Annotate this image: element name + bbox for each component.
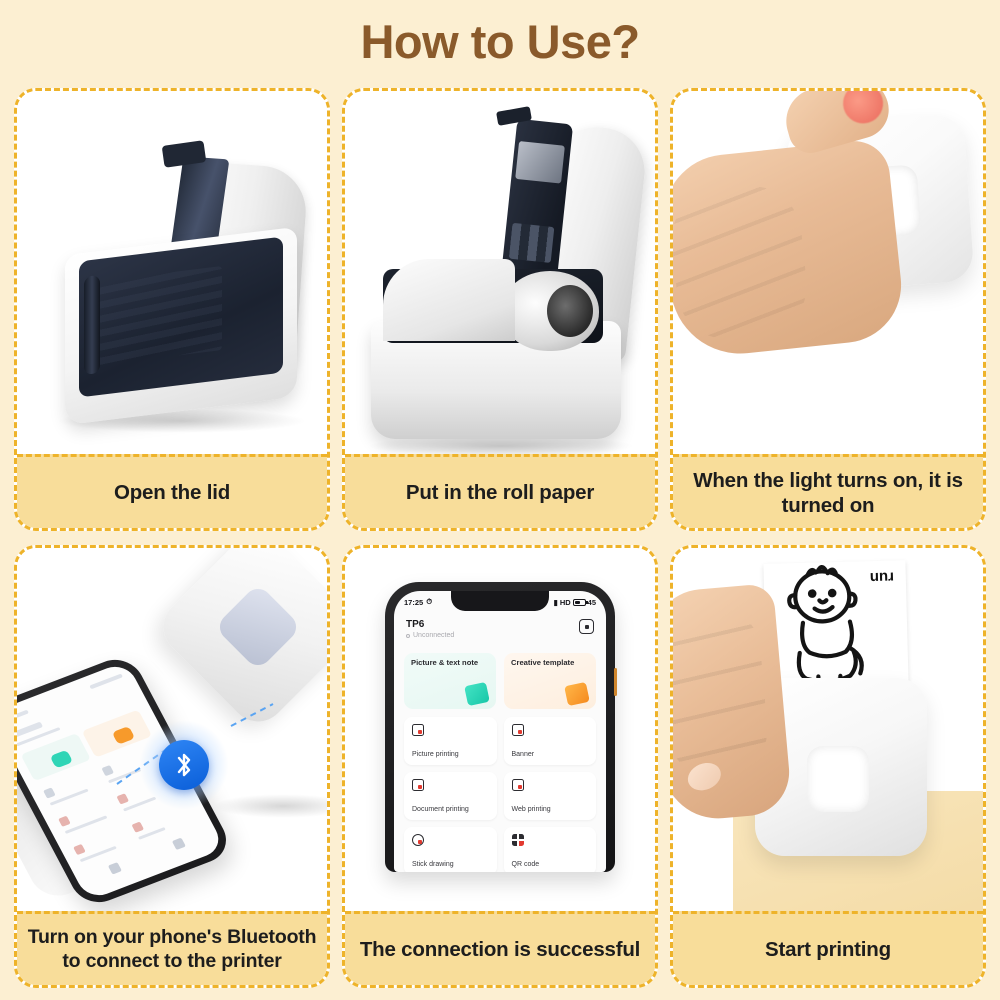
banner-icon <box>512 724 524 736</box>
battery-icon <box>573 599 586 606</box>
hand <box>673 138 907 361</box>
tile-icon-placeholder <box>58 816 71 827</box>
steps-grid: Open the lid Put in th <box>14 88 986 988</box>
template-icon <box>564 682 590 706</box>
tile-label: Picture printing <box>412 751 489 758</box>
step-6-caption: Start printing <box>673 911 983 985</box>
app-header: TP6 Unconnected <box>394 615 606 639</box>
connection-status: Unconnected <box>406 632 594 639</box>
step-4-photo <box>17 548 327 911</box>
card-picture-text-note[interactable]: Picture & text note <box>404 653 496 709</box>
phone-side-button[interactable] <box>614 668 617 696</box>
tile-web-printing[interactable]: Web printing <box>504 772 597 820</box>
printer-square-window <box>807 746 869 812</box>
signal-icon: ▮ <box>554 598 558 607</box>
step-4-caption: Turn on your phone's Bluetooth to connec… <box>17 911 327 985</box>
tile-banner[interactable]: Banner <box>504 717 597 765</box>
step-panel-1: Open the lid <box>14 88 330 531</box>
glowing-power-button <box>838 91 887 128</box>
feature-tiles: Picture printing Banner Document printin… <box>404 717 596 872</box>
tile-stick-drawing[interactable]: Stick drawing <box>404 827 497 872</box>
status-dot-icon <box>406 634 410 638</box>
smartphone: 17:25 ⏱ ▮ HD 45 TP6 <box>385 582 615 872</box>
printer-body <box>65 227 297 425</box>
card-label: Creative template <box>511 659 589 667</box>
status-bar-left: 17:25 ⏱ <box>404 597 432 607</box>
step-panel-2: Put in the roll paper <box>342 88 658 531</box>
paper-roller <box>84 275 100 375</box>
card-label: Picture & text note <box>411 659 489 667</box>
finger-creases <box>673 181 812 344</box>
printer-body <box>371 321 621 439</box>
document-printing-icon <box>412 779 424 791</box>
step-1-photo <box>17 91 327 454</box>
tabbar-icon-placeholder <box>108 862 122 874</box>
tile-label-placeholder <box>65 815 108 834</box>
page-title: How to Use? <box>0 14 1000 69</box>
stick-drawing-icon <box>412 834 424 846</box>
tile-label-placeholder <box>80 846 117 862</box>
qr-code-icon <box>512 834 524 846</box>
step-5-photo: 17:25 ⏱ ▮ HD 45 TP6 <box>345 548 655 911</box>
tile-label: Stick drawing <box>412 861 489 868</box>
paper-roll <box>501 271 599 351</box>
picture-printing-icon <box>412 724 424 736</box>
status-placeholder <box>17 710 29 723</box>
step-5-caption: The connection is successful <box>345 911 655 985</box>
step-3-photo <box>673 91 983 454</box>
doodle-text: run <box>869 568 894 586</box>
picture-note-icon <box>464 682 490 706</box>
how-to-use-infographic: How to Use? Open the lid <box>0 0 1000 1000</box>
tile-icon-placeholder <box>131 822 144 833</box>
network-label: HD <box>560 598 571 607</box>
card-creative-template[interactable]: Creative template <box>504 653 596 709</box>
paper-roll-core <box>547 285 593 337</box>
step-2-caption: Put in the roll paper <box>345 454 655 528</box>
step-panel-5: 17:25 ⏱ ▮ HD 45 TP6 <box>342 545 658 988</box>
phone-notch <box>451 591 549 611</box>
battery-level: 45 <box>588 598 596 607</box>
alarm-icon: ⏱ <box>426 597 432 607</box>
hand <box>673 583 793 823</box>
status-bar-right: ▮ HD 45 <box>554 598 596 607</box>
tile-document-printing[interactable]: Document printing <box>404 772 497 820</box>
step-3-caption: When the light turns on, it is turned on <box>673 454 983 528</box>
step-2-photo <box>345 91 655 454</box>
bluetooth-icon <box>159 740 209 790</box>
feature-cards: Picture & text note Creative template <box>404 653 596 709</box>
tile-label: Banner <box>512 751 589 758</box>
step-panel-4: Turn on your phone's Bluetooth to connec… <box>14 545 330 988</box>
printer-front-cover <box>383 259 515 341</box>
tile-label-placeholder <box>50 789 89 806</box>
printer-power-button <box>214 583 302 671</box>
finger-creases <box>673 602 771 780</box>
step-panel-3: When the light turns on, it is turned on <box>670 88 986 531</box>
status-placeholder <box>89 673 123 689</box>
tile-label: Web printing <box>512 806 589 813</box>
phone-screen[interactable]: 17:25 ⏱ ▮ HD 45 TP6 <box>394 591 606 872</box>
tabbar-icon-placeholder <box>172 838 186 850</box>
thermal-head-window <box>515 141 565 184</box>
web-printing-icon <box>512 779 524 791</box>
step-1-caption: Open the lid <box>17 454 327 528</box>
connection-status-label: Unconnected <box>413 632 454 639</box>
camera-icon[interactable] <box>579 619 594 634</box>
step-panel-6: run Start printing <box>670 545 986 988</box>
tile-picture-printing[interactable]: Picture printing <box>404 717 497 765</box>
bluetooth-glyph <box>173 751 195 779</box>
tile-qr-code[interactable]: QR code <box>504 827 597 872</box>
tile-label: QR code <box>512 861 589 868</box>
tile-icon-placeholder <box>43 787 56 798</box>
device-name: TP6 <box>406 619 594 630</box>
status-time: 17:25 <box>404 598 423 607</box>
paper-tray-cavity <box>79 236 283 397</box>
tile-label: Document printing <box>412 806 489 813</box>
step-6-photo: run <box>673 548 983 911</box>
printed-paper: run <box>763 560 908 688</box>
tile-icon-placeholder <box>73 844 86 855</box>
lid-contacts <box>509 223 555 263</box>
